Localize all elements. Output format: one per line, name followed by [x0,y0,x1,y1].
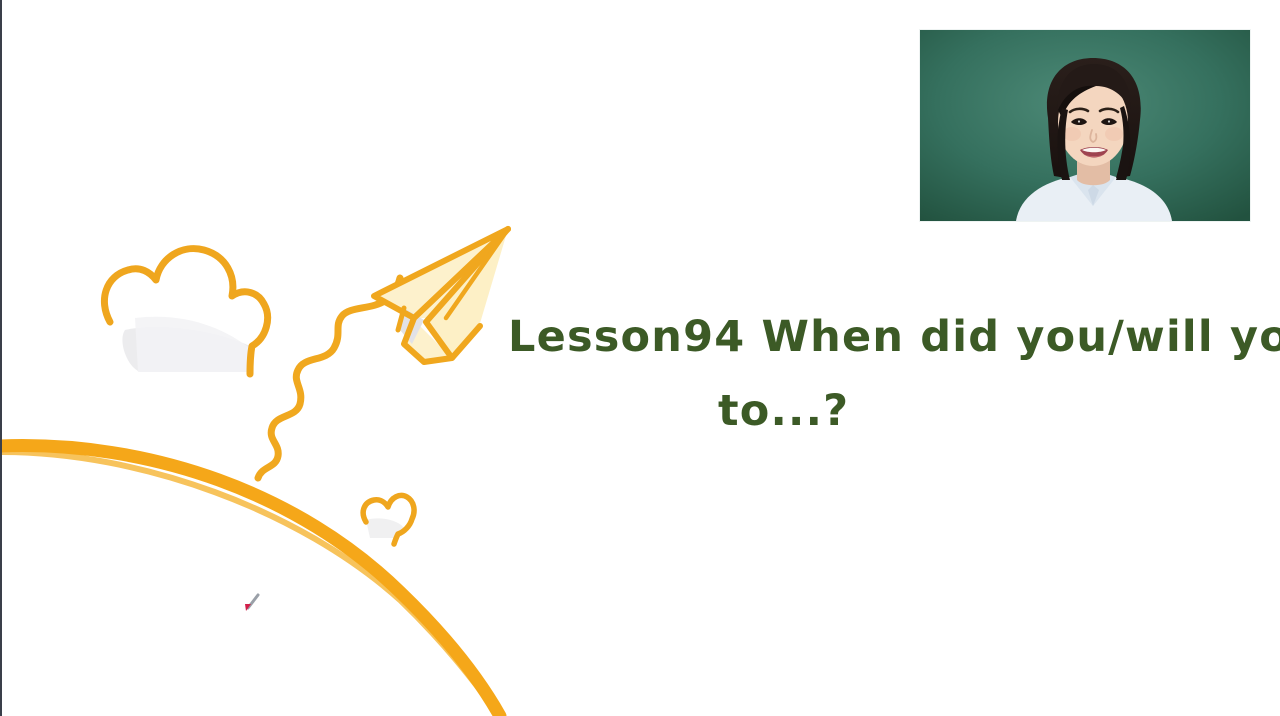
teacher-webcam-panel[interactable] [920,30,1250,221]
lesson-title: Lesson94 When did you/will you go to...? [500,300,1260,448]
wavy-flight-trail [258,278,400,478]
left-edge-strip [0,0,2,716]
cloud-illustration-large [104,249,267,374]
paper-plane-illustration [374,229,508,362]
pen-cursor-marker[interactable] [245,595,258,611]
lesson-slide: Lesson94 When did you/will you go to...? [0,0,1280,716]
orange-arc-thick [0,446,500,716]
title-line-1: Lesson94 When did you/will you go [500,300,1260,374]
webcam-video-feed [920,30,1250,221]
cloud-illustration-small [363,495,414,544]
title-line-2: to...? [500,374,1260,448]
